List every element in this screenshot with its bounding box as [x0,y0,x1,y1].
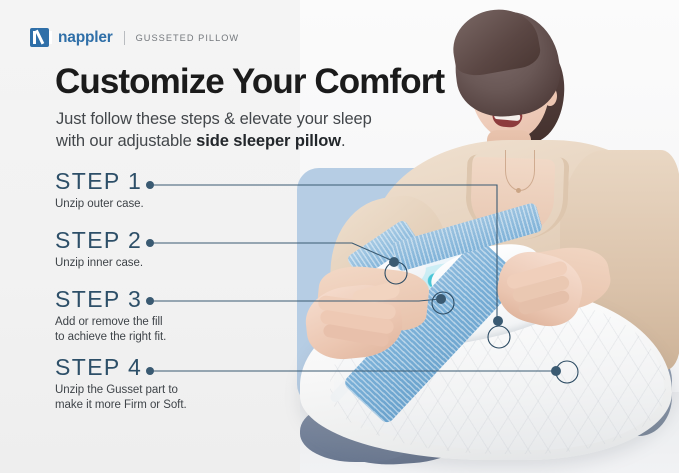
leader-dot-3 [146,297,154,305]
leader-line-2 [150,243,393,261]
infographic-page: nappler GUSSETED PILLOW Customize Your C… [0,0,679,473]
leader-line-3 [150,299,440,301]
leader-dot-1 [146,181,154,189]
leader-dot-4 [146,367,154,375]
callout-dot-1 [493,316,503,326]
leader-dot-2 [146,239,154,247]
callout-dot-4 [551,366,561,376]
callout-lines [0,0,679,473]
callout-ring-1 [488,326,510,348]
callout-dot-2 [389,257,399,267]
callout-dot-3 [436,294,446,304]
